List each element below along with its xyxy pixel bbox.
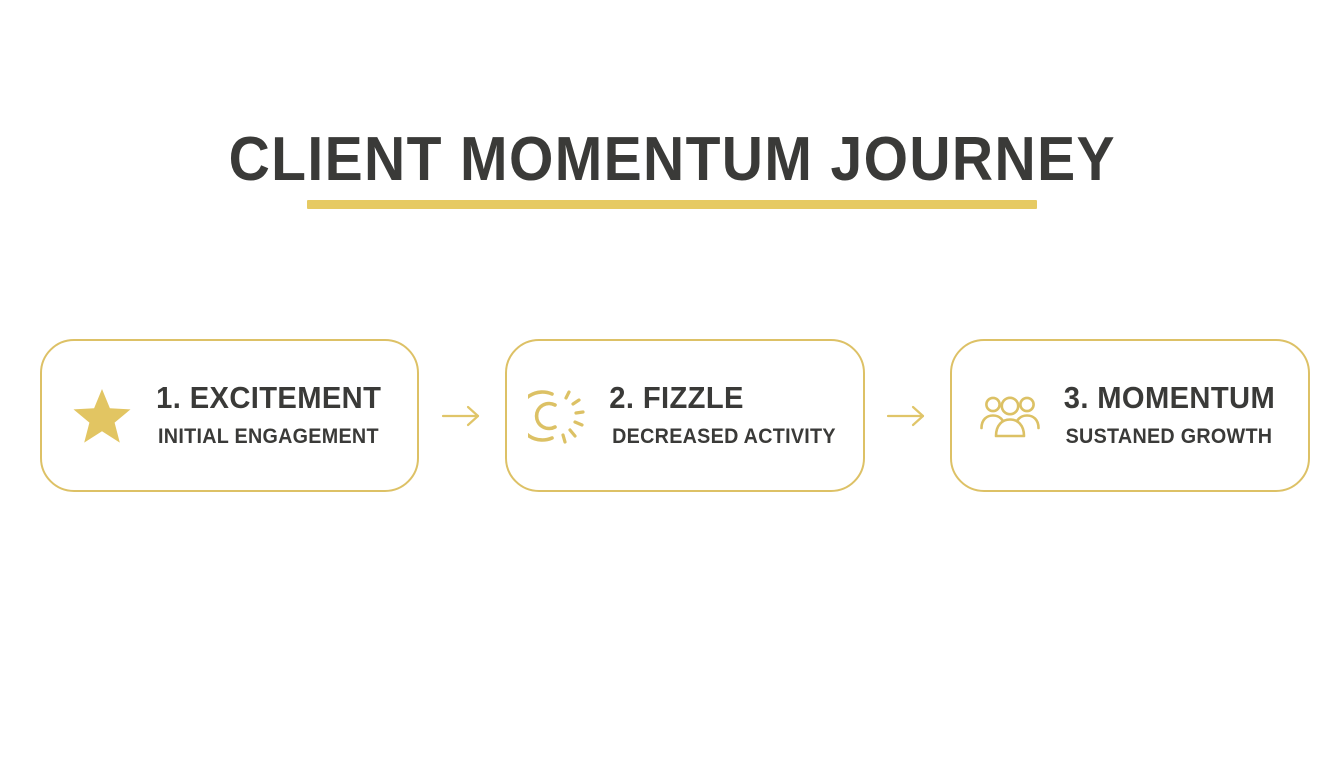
arrow-right-icon [884, 399, 930, 433]
step-title: 2. FIZZLE [609, 381, 744, 415]
step-subtitle: DECREASED ACTIVITY [612, 424, 836, 450]
step-text-momentum: 3. MOMENTUM SUSTANED GROWTH [1057, 381, 1282, 450]
step-title: 1. EXCITEMENT [156, 381, 381, 415]
page-title: CLIENT MOMENTUM JOURNEY [228, 126, 1115, 194]
step-subtitle: SUSTANED GROWTH [1066, 424, 1273, 450]
step-card-excitement[interactable]: 1. EXCITEMENT INITIAL ENGAGEMENT [40, 339, 419, 492]
star-icon [71, 385, 133, 447]
arrow-right-icon [439, 399, 485, 433]
step-title: 3. MOMENTUM [1063, 381, 1274, 415]
people-group-icon [979, 385, 1041, 447]
fading-sun-icon [527, 385, 589, 447]
step-text-fizzle: 2. FIZZLE DECREASED ACTIVITY [605, 381, 843, 450]
title-underline [307, 200, 1037, 209]
title-block: CLIENT MOMENTUM JOURNEY [0, 126, 1344, 209]
step-subtitle: INITIAL ENGAGEMENT [158, 424, 379, 450]
step-text-excitement: 1. EXCITEMENT INITIAL ENGAGEMENT [149, 381, 388, 450]
slide-canvas: CLIENT MOMENTUM JOURNEY 1. EXCITEMENT IN… [0, 0, 1344, 768]
step-card-momentum[interactable]: 3. MOMENTUM SUSTANED GROWTH [950, 339, 1310, 492]
journey-flow-row: 1. EXCITEMENT INITIAL ENGAGEMENT [40, 339, 1310, 492]
step-card-fizzle[interactable]: 2. FIZZLE DECREASED ACTIVITY [505, 339, 865, 492]
